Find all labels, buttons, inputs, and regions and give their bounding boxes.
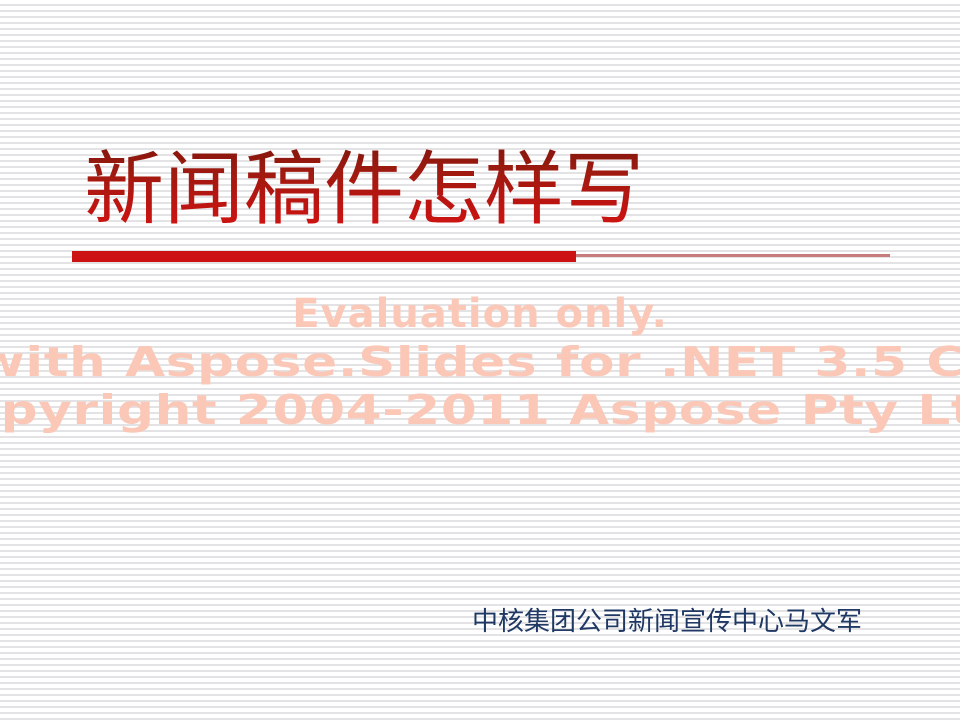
footer-block: 中核集团公司新闻宣传中心马文军 (0, 606, 862, 638)
watermark-line-1: Evaluation only. (0, 290, 960, 338)
divider-thin-rule (576, 254, 890, 257)
author-credit: 中核集团公司新闻宣传中心马文军 (472, 607, 862, 637)
watermark-line-3: Copyright 2004-2011 Aspose Pty Ltd. (0, 386, 960, 434)
title-block: 新闻稿件怎样写 (72, 138, 892, 242)
slide-canvas: 新闻稿件怎样写 Evaluation only. Created with As… (0, 0, 960, 720)
divider-thick-bar (72, 251, 576, 262)
evaluation-watermark: Evaluation only. Created with Aspose.Sli… (0, 290, 960, 434)
watermark-line-2: Created with Aspose.Slides for .NET 3.5 … (0, 338, 960, 386)
title-divider (72, 250, 890, 263)
page-title: 新闻稿件怎样写 (72, 138, 892, 242)
